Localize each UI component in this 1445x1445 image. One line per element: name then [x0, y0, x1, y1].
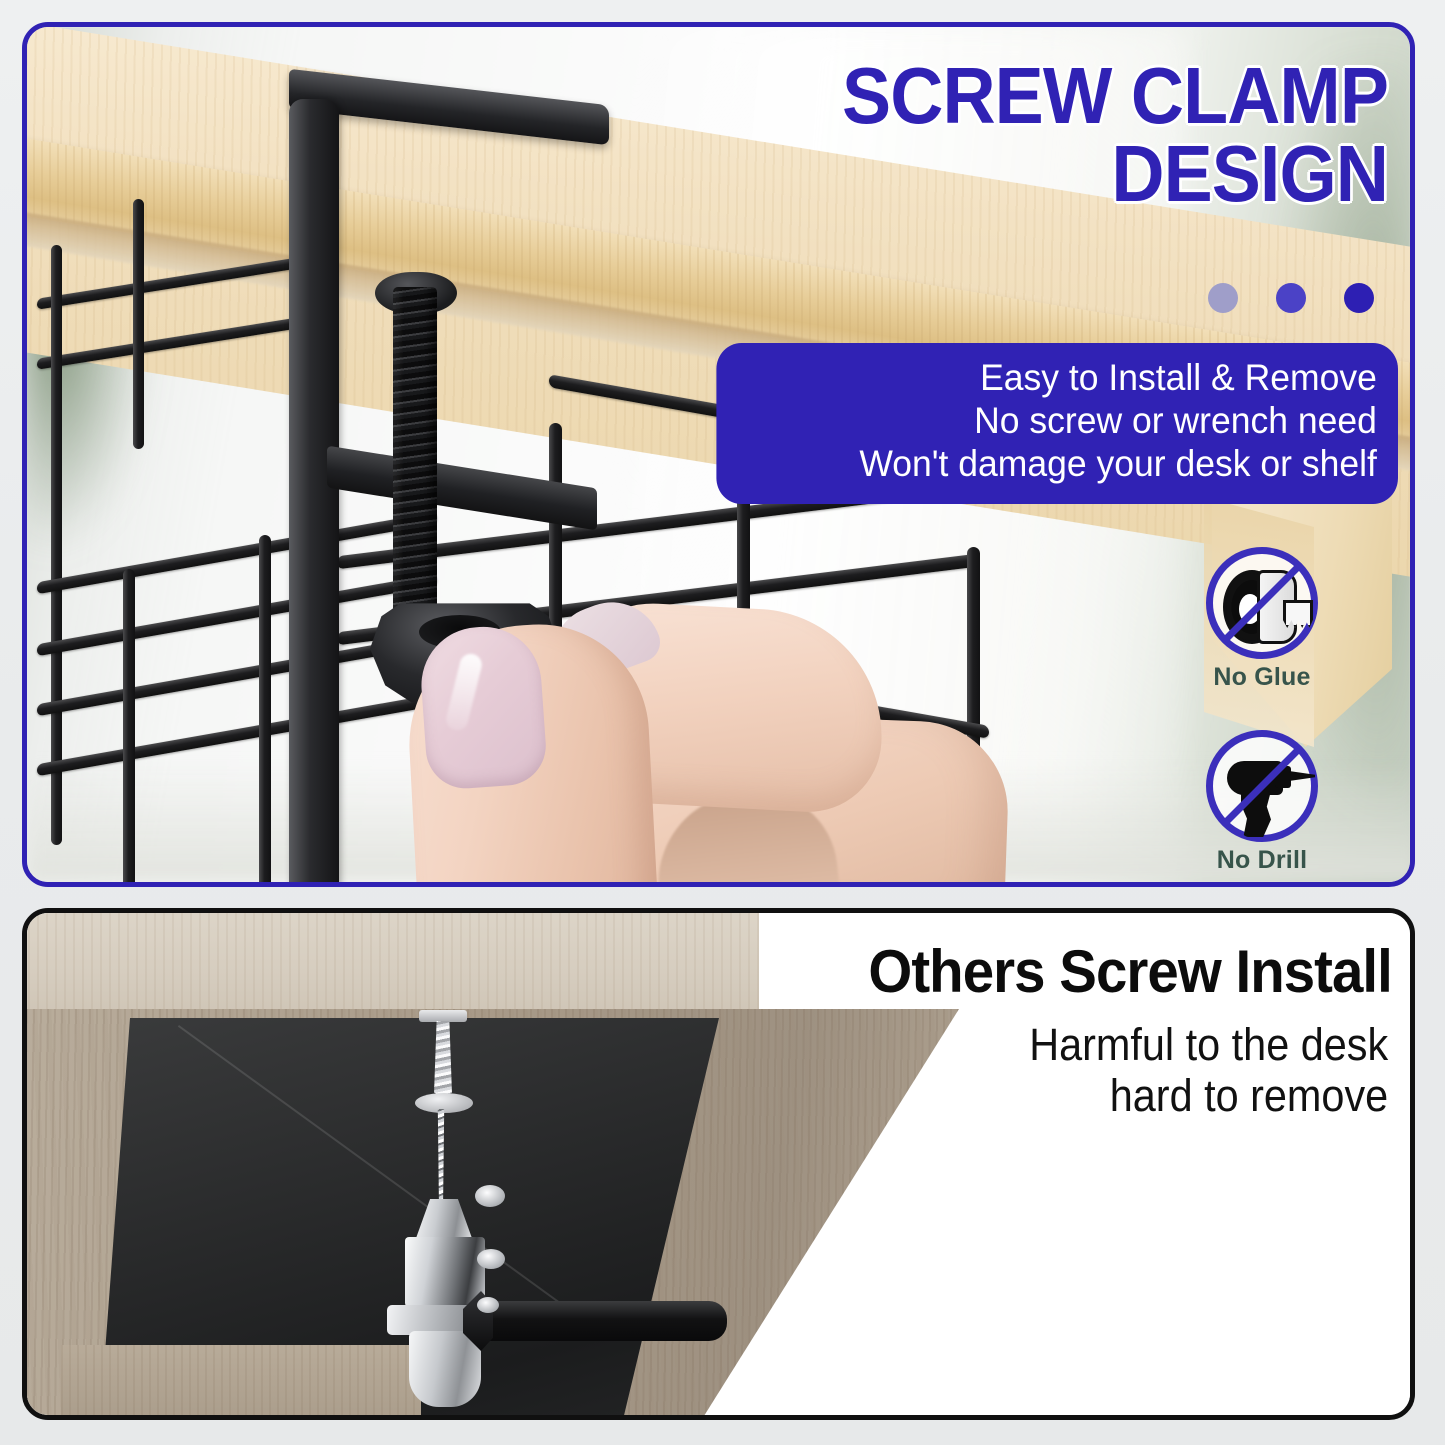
index-fingernail — [418, 623, 549, 791]
desk-top-band — [22, 909, 759, 1014]
bottom-heading: Others Screw Install — [869, 937, 1392, 1006]
rack-upright — [133, 199, 144, 449]
drill-grip-icon — [1241, 791, 1271, 837]
drill-bit-icon — [431, 1109, 451, 1209]
drill-chuck-cone — [415, 1199, 473, 1241]
bottom-sub-line-1: Harmful to the desk — [1029, 1019, 1388, 1070]
callout-line-3: Won't damage your desk or shelf — [738, 443, 1377, 486]
drill-assembly — [327, 1013, 587, 1403]
clamp-vertical-arm — [289, 99, 339, 882]
infographic-canvas: SCREW CLAMP DESIGN Easy to Install & Rem… — [0, 0, 1445, 1445]
drill-chuck-foot — [409, 1331, 481, 1407]
benefits-callout: Easy to Install & Remove No screw or wre… — [716, 343, 1398, 504]
decorative-dots — [1208, 283, 1374, 313]
dot-medium-icon — [1276, 283, 1306, 313]
drill-bit-icon — [1289, 771, 1315, 781]
page-title: SCREW CLAMP DESIGN — [652, 57, 1388, 214]
callout-line-1: Easy to Install & Remove — [738, 357, 1377, 400]
drill-install-photo: Others Screw Install Harmful to the desk… — [27, 913, 1410, 1415]
bottom-subtext: Harmful to the desk hard to remove — [1029, 1019, 1388, 1122]
no-drill-badge: No Drill — [1200, 730, 1324, 875]
clamp-product-photo: SCREW CLAMP DESIGN Easy to Install & Rem… — [27, 27, 1410, 882]
hand-turning-knob — [357, 597, 997, 882]
bottom-sub-line-2: hard to remove — [1029, 1070, 1388, 1121]
callout-line-2: No screw or wrench need — [738, 400, 1377, 443]
drill-icon — [1227, 761, 1283, 795]
tape-strip-icon — [1283, 600, 1313, 628]
wood-shaving — [477, 1249, 505, 1269]
dot-light-icon — [1208, 283, 1238, 313]
screw-thread-icon — [427, 1021, 459, 1097]
rack-upright — [123, 569, 135, 882]
wood-shaving — [475, 1185, 505, 1207]
drill-chuck-body — [405, 1237, 485, 1307]
prohibition-circle-icon — [1206, 547, 1318, 659]
drill-side-handle — [477, 1301, 727, 1341]
screw-clamp-panel: SCREW CLAMP DESIGN Easy to Install & Rem… — [22, 22, 1415, 887]
rack-upright — [51, 245, 62, 845]
drill-chuck-icon — [1275, 766, 1291, 788]
no-glue-badge: No Glue — [1200, 547, 1324, 692]
threaded-screw-rod — [393, 287, 437, 627]
no-glue-label: No Glue — [1200, 663, 1324, 692]
prohibition-circle-icon — [1206, 730, 1318, 842]
rack-upright — [259, 535, 271, 882]
wood-shaving — [477, 1297, 499, 1313]
dot-dark-icon — [1344, 283, 1374, 313]
others-screw-install-panel: Others Screw Install Harmful to the desk… — [22, 908, 1415, 1420]
no-drill-label: No Drill — [1200, 846, 1324, 875]
screw-head-icon — [419, 1010, 467, 1022]
